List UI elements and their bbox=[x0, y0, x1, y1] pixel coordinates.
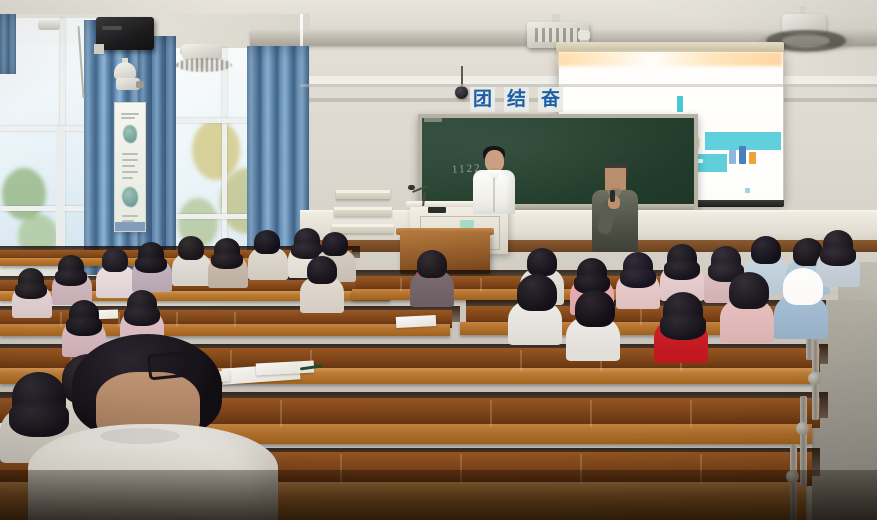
lectern-control-box bbox=[428, 207, 446, 213]
student-hair bbox=[517, 274, 557, 311]
shirt-collar bbox=[100, 428, 180, 444]
student-hair bbox=[138, 242, 164, 266]
student-hair bbox=[58, 255, 84, 279]
student bbox=[508, 274, 564, 342]
stage-step-1 bbox=[336, 190, 390, 199]
window-sash bbox=[56, 126, 64, 246]
student bbox=[566, 290, 622, 358]
student-hair bbox=[623, 252, 653, 280]
speaker-bracket bbox=[94, 44, 104, 54]
handheld-microphone-icon bbox=[610, 190, 615, 202]
hanging-sensor-ball-icon bbox=[455, 86, 468, 99]
student-hair bbox=[254, 230, 280, 254]
slogan-char-2: 结 bbox=[504, 87, 529, 112]
desk-leg-knob bbox=[796, 422, 809, 435]
student-hair bbox=[823, 230, 853, 258]
board-clip bbox=[424, 118, 442, 122]
student-hair bbox=[667, 244, 697, 272]
poster-footer bbox=[115, 222, 145, 231]
camera-lens-icon bbox=[136, 81, 144, 88]
presenter-1-placket bbox=[493, 178, 495, 212]
desk-leg-knob bbox=[808, 372, 821, 385]
eyeglasses-icon bbox=[147, 349, 199, 380]
student-hair bbox=[663, 292, 703, 329]
student-hair bbox=[783, 268, 823, 305]
paper-sheet bbox=[396, 315, 437, 328]
student bbox=[774, 268, 830, 336]
desk-object-teal bbox=[460, 220, 474, 228]
ceiling-fan-left-mount bbox=[38, 20, 60, 30]
student-hair bbox=[527, 248, 557, 276]
student bbox=[654, 292, 710, 360]
student-hair bbox=[711, 246, 741, 274]
student bbox=[208, 238, 250, 294]
student-hair bbox=[12, 372, 66, 422]
student-hair bbox=[322, 232, 348, 256]
curtain-edge bbox=[0, 14, 16, 74]
screen-glare bbox=[558, 52, 782, 66]
classroom-photo: 团 结 奋 1122 bbox=[0, 0, 877, 520]
student-hair bbox=[178, 236, 204, 260]
student bbox=[248, 230, 290, 286]
student-hair bbox=[69, 300, 99, 328]
floor-shadow bbox=[0, 470, 877, 520]
student-hair bbox=[751, 236, 781, 264]
wall-slogan: 团 结 奋 bbox=[470, 85, 580, 113]
microphone-icon bbox=[408, 185, 415, 190]
student-hair bbox=[18, 268, 44, 292]
student bbox=[720, 272, 776, 340]
slogan-char-1: 团 bbox=[470, 87, 495, 112]
slogan-char-3: 奋 bbox=[538, 87, 563, 112]
student-hair bbox=[729, 272, 769, 309]
wall-strip bbox=[300, 84, 877, 87]
wall-speaker-icon bbox=[96, 17, 154, 50]
student bbox=[410, 250, 456, 310]
student-hair bbox=[214, 238, 240, 262]
stage-step-2 bbox=[334, 207, 392, 216]
fan-mid-blades bbox=[176, 58, 232, 72]
wall-scroll-poster bbox=[114, 102, 146, 232]
student-hair bbox=[575, 290, 615, 327]
projector-lens-icon bbox=[578, 30, 590, 40]
student bbox=[12, 268, 54, 324]
student-hair bbox=[102, 248, 128, 272]
student-hair bbox=[307, 256, 337, 284]
student-hair bbox=[127, 290, 157, 318]
student-hair bbox=[577, 258, 607, 286]
student-hair bbox=[417, 250, 447, 278]
student bbox=[300, 256, 346, 316]
